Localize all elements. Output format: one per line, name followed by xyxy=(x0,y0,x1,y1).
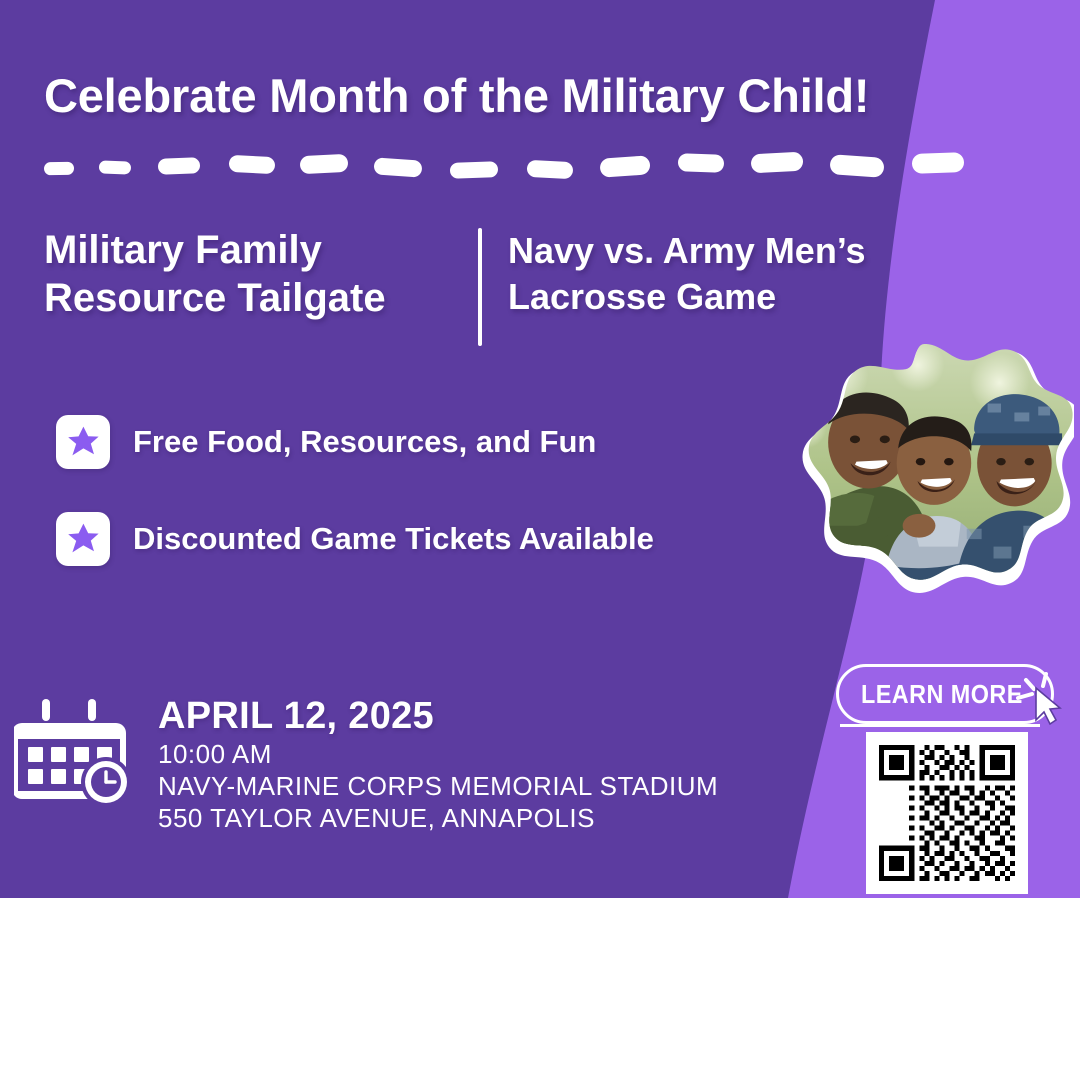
calendar-clock-icon xyxy=(14,697,138,811)
feature-item: Free Food, Resources, and Fun xyxy=(56,415,596,469)
event-title-secondary-line2: Lacrosse Game xyxy=(508,274,978,320)
star-icon xyxy=(65,521,101,557)
military-family-photo xyxy=(776,338,1074,636)
event-venue: NAVY-MARINE CORPS MEMORIAL STADIUM xyxy=(158,770,818,802)
event-address: 550 TAYLOR AVENUE, ANNAPOLIS xyxy=(158,802,818,834)
event-details: APRIL 12, 2025 10:00 AM NAVY-MARINE CORP… xyxy=(158,694,818,834)
event-title-secondary-line1: Navy vs. Army Men’s xyxy=(508,228,978,274)
poster: Celebrate Month of the Military Child! xyxy=(0,0,1080,1080)
star-icon-badge xyxy=(56,512,110,566)
feature-item: Discounted Game Tickets Available xyxy=(56,512,654,566)
star-icon-badge xyxy=(56,415,110,469)
page-title: Celebrate Month of the Military Child! xyxy=(44,68,944,123)
title-divider xyxy=(478,228,482,346)
event-title-primary-line1: Military Family xyxy=(44,226,474,274)
footer: veterans.maryland.gov xyxy=(0,898,1080,1080)
click-cursor-icon xyxy=(1004,668,1066,728)
event-title-primary-line2: Resource Tailgate xyxy=(44,274,474,322)
feature-item-label: Discounted Game Tickets Available xyxy=(133,521,654,557)
learn-more-cta[interactable]: LEARN MORE xyxy=(836,664,1066,726)
event-date: APRIL 12, 2025 xyxy=(158,694,818,738)
event-title-primary: Military Family Resource Tailgate xyxy=(44,226,474,322)
event-title-block: Military Family Resource Tailgate Navy v… xyxy=(44,226,944,351)
learn-more-label: LEARN MORE xyxy=(861,679,1023,710)
dashed-rule xyxy=(44,150,964,186)
feature-item-label: Free Food, Resources, and Fun xyxy=(133,424,596,460)
event-title-secondary: Navy vs. Army Men’s Lacrosse Game xyxy=(508,228,978,320)
star-icon xyxy=(65,424,101,460)
qr-code[interactable] xyxy=(866,732,1028,894)
event-time: 10:00 AM xyxy=(158,738,818,770)
